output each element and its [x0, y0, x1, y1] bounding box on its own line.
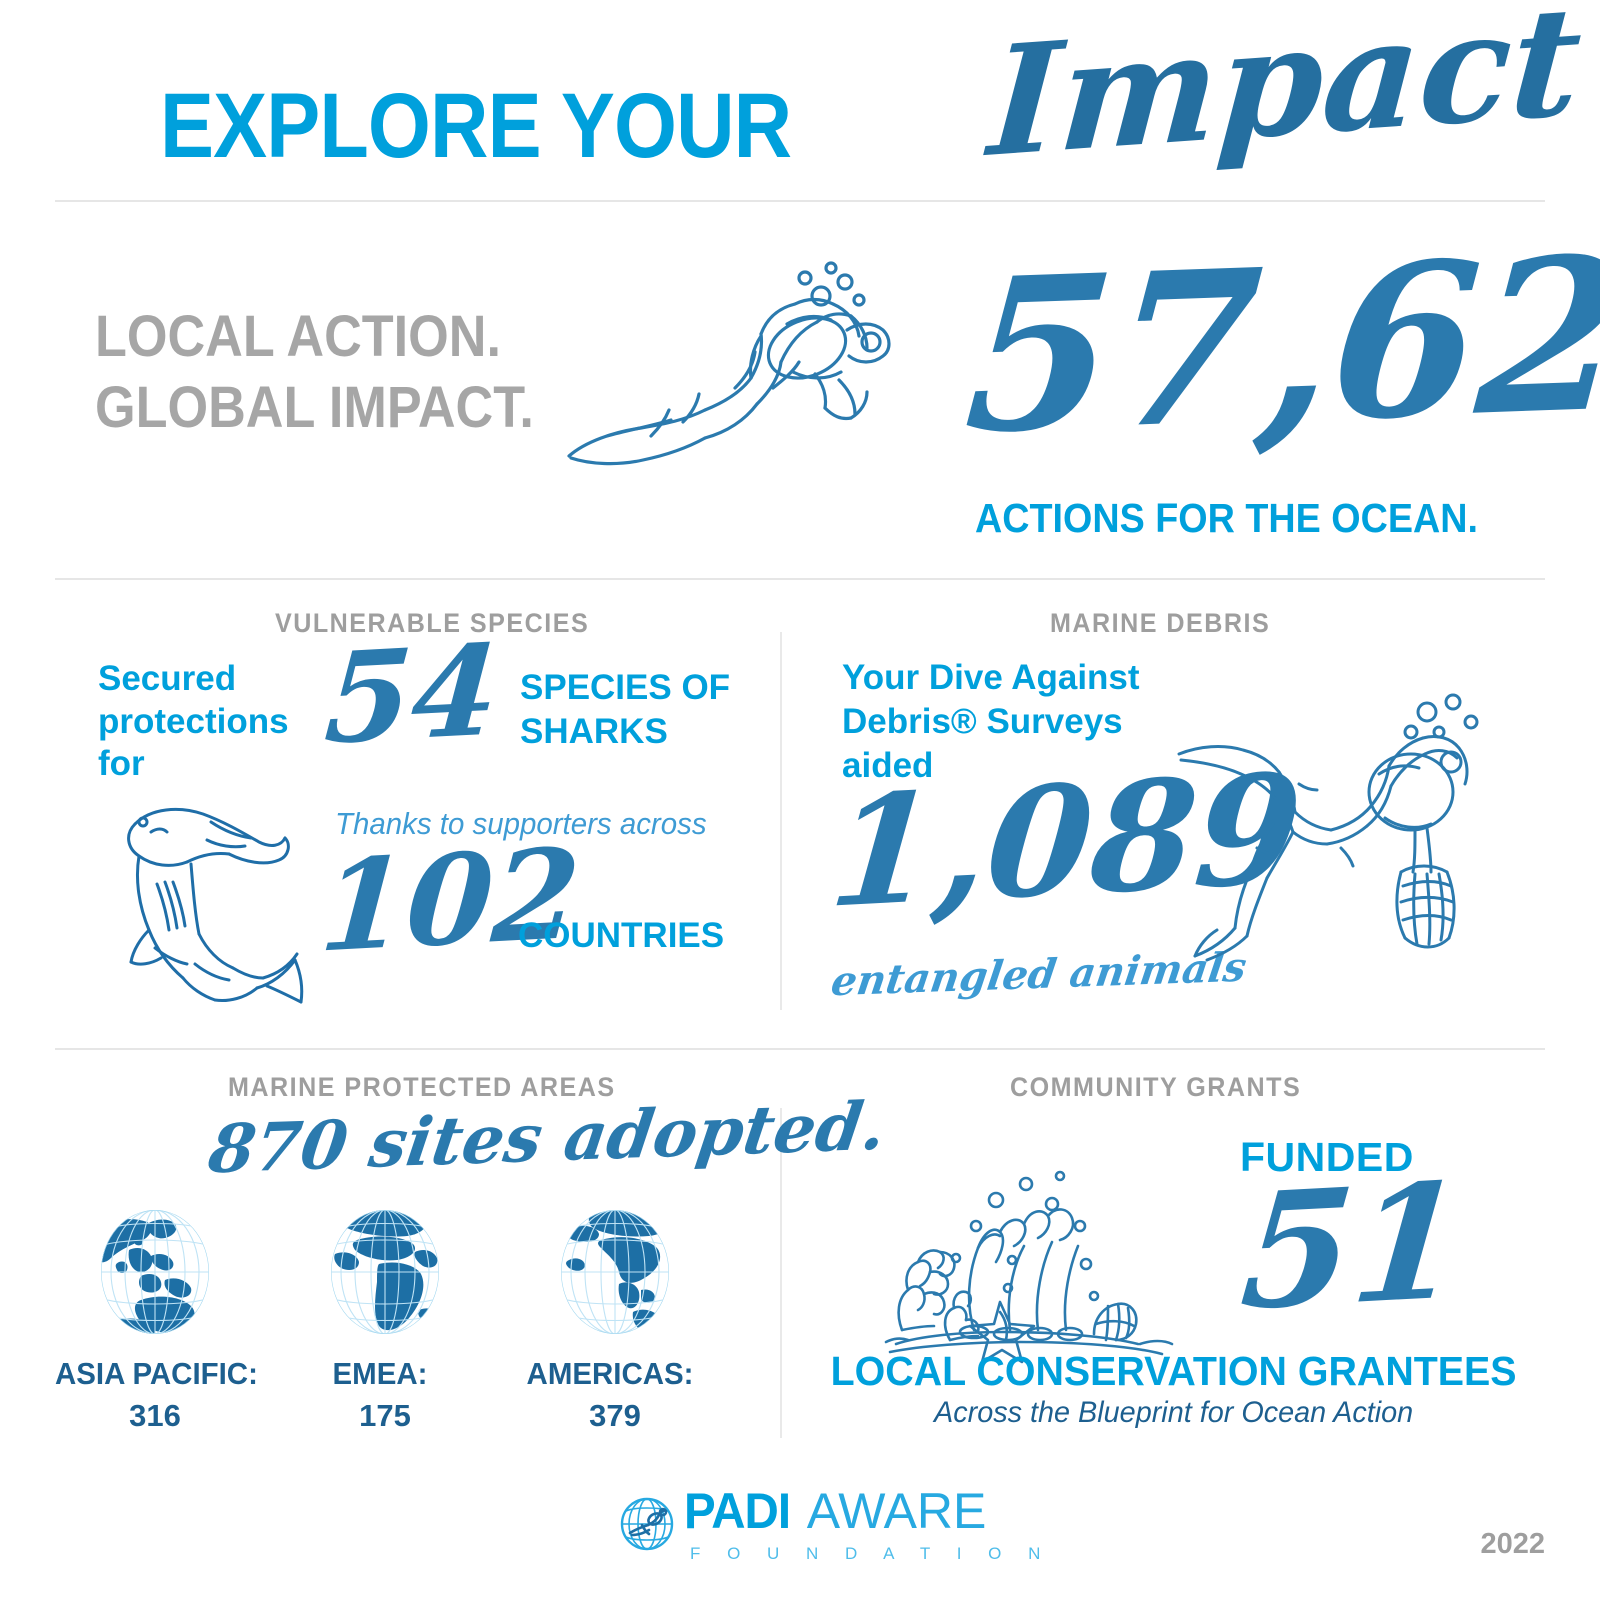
- sharks-count: 54: [321, 629, 502, 763]
- grants-sub-text: Across the Blueprint for Ocean Action: [780, 1396, 1567, 1430]
- region-name: ASIA PACIFIC:: [55, 1356, 245, 1392]
- region-block-asia-pacific: ASIA PACIFIC: 316: [55, 1206, 255, 1434]
- scuba-diver-icon: [555, 260, 915, 510]
- region-name: EMEA:: [285, 1356, 475, 1392]
- page-footer: PADI AWARE F O U N D A T I O N 2022: [0, 1468, 1600, 1600]
- section-header-community-grants: COMMUNITY GRANTS: [1010, 1072, 1301, 1103]
- region-value: 175: [285, 1398, 485, 1434]
- logo-aware-text: AWARE: [807, 1486, 987, 1536]
- panel-marine-protected-areas: MARINE PROTECTED AREAS 870 sites adopted…: [0, 1048, 780, 1468]
- hero-section: LOCAL ACTION. GLOBAL IMPACT.: [0, 200, 1600, 578]
- tagline: LOCAL ACTION. GLOBAL IMPACT.: [95, 302, 534, 444]
- debris-diver-with-net-icon: [1175, 688, 1485, 968]
- panel-community-grants: COMMUNITY GRANTS: [780, 1048, 1600, 1468]
- region-block-emea: EMEA: 175: [285, 1206, 485, 1434]
- page-title-main: EXPLORE YOUR: [160, 80, 791, 172]
- total-actions-caption: ACTIONS FOR THE OCEAN.: [975, 495, 1478, 542]
- region-value: 379: [515, 1398, 715, 1434]
- coral-reef-starfish-icon: [880, 1148, 1200, 1368]
- logo-wordmark: PADI AWARE F O U N D A T I O N: [684, 1486, 1051, 1562]
- logo-foundation-text: F O U N D A T I O N: [690, 1545, 1051, 1562]
- region-value: 316: [55, 1398, 255, 1434]
- grants-count: 51: [1236, 1162, 1469, 1332]
- species-lead-text: Secured protections for: [98, 658, 328, 786]
- page-title-script: Impact: [985, 0, 1586, 178]
- panel-vulnerable-species: VULNERABLE SPECIES Secured protections f…: [0, 578, 780, 1048]
- countries-label: COUNTRIES: [518, 916, 724, 956]
- page-header: EXPLORE YOUR Impact: [0, 0, 1600, 200]
- hammerhead-shark-icon: [95, 788, 325, 1018]
- total-actions-number: 57,625: [960, 224, 1600, 463]
- padi-globe-diver-logo-icon: [620, 1497, 674, 1551]
- region-name: AMERICAS:: [515, 1356, 705, 1392]
- section-header-marine-debris: MARINE DEBRIS: [1050, 608, 1270, 639]
- year-label: 2022: [1480, 1528, 1545, 1561]
- panel-marine-debris: MARINE DEBRIS Your Dive Against Debris® …: [780, 578, 1600, 1048]
- logo-top-line: PADI AWARE: [684, 1486, 1051, 1536]
- tagline-line-2: GLOBAL IMPACT.: [95, 373, 534, 444]
- grants-grantees-label: LOCAL CONSERVATION GRANTEES: [780, 1348, 1567, 1395]
- tagline-line-1: LOCAL ACTION.: [95, 302, 534, 373]
- globe-americas-icon: [549, 1206, 681, 1338]
- padi-aware-foundation-logo: PADI AWARE F O U N D A T I O N: [620, 1486, 1051, 1562]
- sharks-label: SPECIES OF SHARKS: [520, 666, 750, 754]
- infographic-page: EXPLORE YOUR Impact LOCAL ACTION. GLOBAL…: [0, 0, 1600, 1600]
- globe-asia-pacific-icon: [89, 1206, 221, 1338]
- globe-emea-icon: [319, 1206, 451, 1338]
- region-block-americas: AMERICAS: 379: [515, 1206, 715, 1434]
- logo-padi-text: PADI: [684, 1486, 790, 1536]
